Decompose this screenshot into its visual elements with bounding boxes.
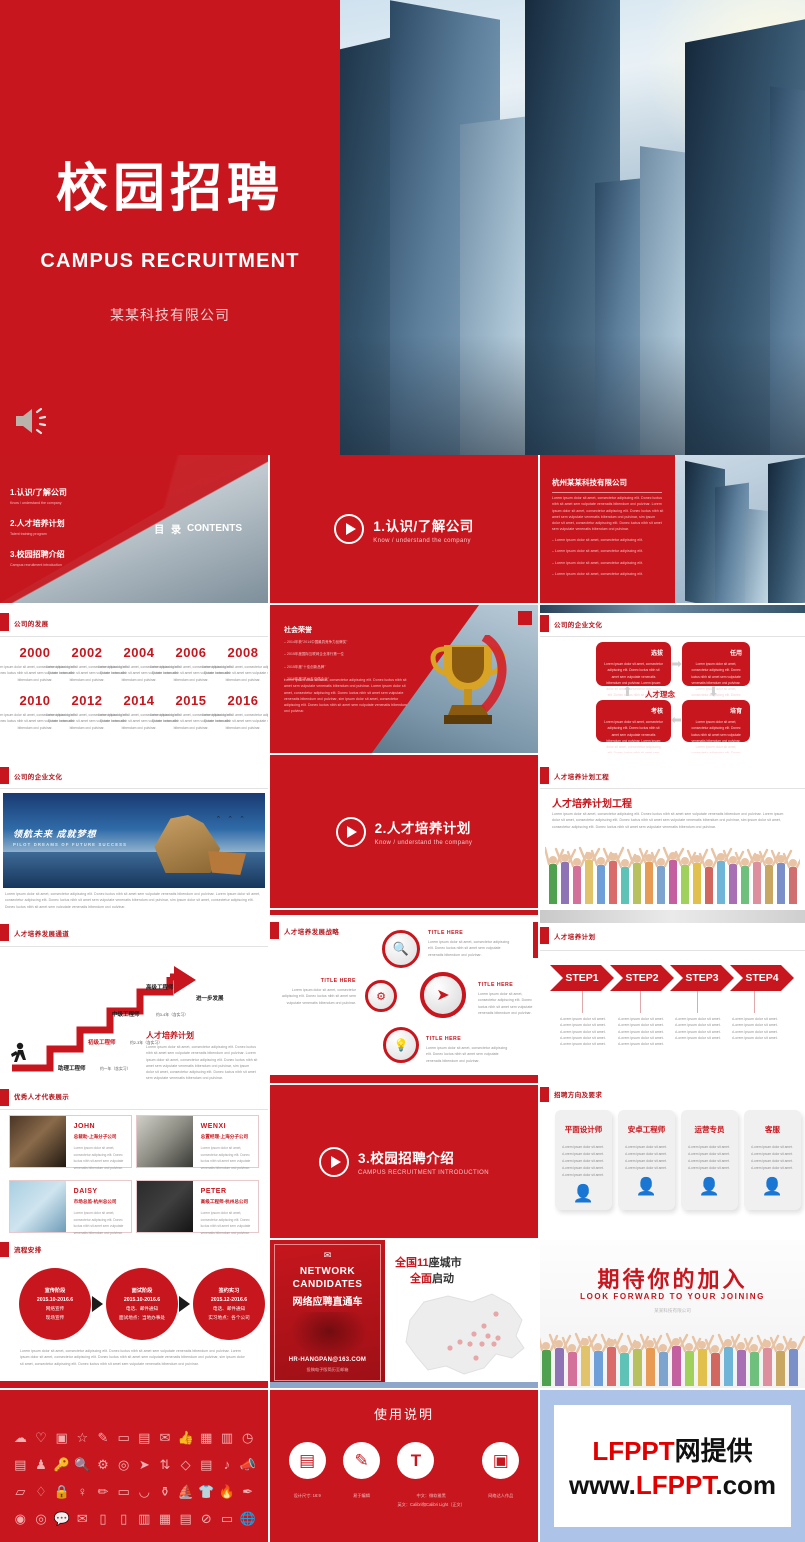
image-icon[interactable]: ▣	[51, 1424, 72, 1451]
step-chevron[interactable]: STEP1	[550, 965, 614, 991]
section-badge	[540, 767, 549, 784]
talent-card[interactable]: DAISY 市场总监-杭州总公司 Lorem ipsum dolor sit a…	[9, 1180, 132, 1233]
divider-line	[0, 636, 268, 637]
slide-usage: 使用说明 ▤ 设计尺寸: 16:9 ✎ 易于编辑 T 中文：微软雅黑 英文：Ca…	[270, 1390, 538, 1542]
section-heading: 人才培养发展战略	[284, 926, 339, 936]
bowl-icon[interactable]: ◡	[134, 1478, 155, 1505]
slide-talent-plan-cover: 人才培养计划工程 人才培养计划工程 Lorem ipsum dolor sit …	[540, 755, 805, 908]
step-chevron[interactable]: STEP4	[730, 965, 794, 991]
section-badge	[540, 927, 549, 944]
page-title: 校园招聘	[0, 163, 340, 215]
step-detail: •Lorem ipsum dolor sit amet.•Lorem ipsum…	[732, 1016, 784, 1041]
section-heading: 招聘方向及要求	[554, 1089, 602, 1099]
watch-icon[interactable]: ◷	[237, 1424, 258, 1451]
arrow-up-icon: ⬆	[622, 685, 633, 698]
pen-icon[interactable]: ✎	[93, 1424, 114, 1451]
play-icon[interactable]	[336, 817, 366, 847]
company-bullet: – Lorem ipsum dolor sit amet, consectetu…	[552, 560, 664, 566]
dream-image: 领航未来 成就梦想 PILOT DREAMS OF FUTURE SUCCESS…	[3, 793, 265, 888]
slide-contents: 1.认识/了解公司 Know / understand the company …	[0, 455, 268, 603]
ending-company: 某某科技有限公司	[540, 1308, 805, 1314]
pencil-icon[interactable]: ✏	[93, 1478, 114, 1505]
talent-photo	[10, 1181, 66, 1232]
career-end-label: 进一步发展	[196, 994, 224, 1002]
search-icon[interactable]: 🔍	[72, 1451, 93, 1478]
talent-plan-paragraph: Lorem ipsum dolor sit amet, consectetur …	[552, 811, 792, 830]
usage-item: ▤ 设计尺寸: 16:9	[289, 1442, 326, 1508]
crowd-photo	[540, 1326, 805, 1388]
job-card[interactable]: 运营专员 •Lorem ipsum dolor sit amet.•Lorem …	[681, 1110, 738, 1210]
strategy-item: TITLE HERE Lorem ipsum dolor sit amet, c…	[478, 982, 534, 1016]
culture-center-label: 人才理念	[645, 689, 675, 700]
map-title-line1: 全国11座城市	[395, 1254, 462, 1270]
phone-icon[interactable]: ▯	[113, 1505, 134, 1532]
section-heading: 人才培养发展通道	[14, 928, 69, 938]
envelope-icon[interactable]: ✉	[155, 1424, 176, 1451]
id-card-icon[interactable]: ▣	[482, 1442, 519, 1479]
slide-culture-cycle: 公司的企业文化 选拔 Lorem ipsum dolor sit amet, c…	[540, 605, 805, 753]
arrow-down-icon: ⬇	[708, 685, 719, 698]
slide-icon-sheet: ☁ ♡ ▣ ☆ ✎ ▭ ▤ ✉ 👍 ▦ ▥ ◷ ▤ ♟ 🔑 🔍 ⚙ ◎ ➤ ⇅ …	[0, 1390, 268, 1542]
database-icon[interactable]: ▤	[196, 1451, 217, 1478]
step-detail: •Lorem ipsum dolor sit amet.•Lorem ipsum…	[675, 1016, 727, 1041]
cover-left-panel: 校园招聘 CAMPUS RECRUITMENT 某某科技有限公司	[0, 0, 340, 455]
talent-card[interactable]: WENXI 总置经理-上海分子公司 Lorem ipsum dolor sit …	[136, 1115, 259, 1168]
notebook-icon[interactable]: ▤	[289, 1442, 326, 1479]
section-heading: 人才培养计划	[554, 931, 595, 941]
contents-label: 目 录 CONTENTS	[154, 521, 242, 536]
slide-section-2-divider: 2.人才培养计划 Know / understand the company	[270, 755, 538, 908]
culture-box: 培育 Lorem ipsum dolor sit amet, consectet…	[682, 700, 750, 742]
paper-plane-icon[interactable]: ➤	[420, 972, 466, 1018]
career-step-label: 初级工程师	[88, 1038, 116, 1046]
usage-item: T 中文：微软雅黑 英文：Calibri和Calibri Light（正文）	[397, 1442, 464, 1508]
section-subtitle: Know / understand the company	[375, 840, 473, 846]
key-icon[interactable]: 🔑	[51, 1451, 72, 1478]
newspaper-icon[interactable]: ▤	[134, 1424, 155, 1451]
talent-card[interactable]: PETER 高级工程师-杭州总公司 Lorem ipsum dolor sit …	[136, 1180, 259, 1233]
job-card[interactable]: 客服 •Lorem ipsum dolor sit amet.•Lorem ip…	[744, 1110, 801, 1210]
gear-icon[interactable]: ⚙	[93, 1451, 114, 1478]
truck-icon[interactable]: ▭	[217, 1505, 238, 1532]
heart-icon[interactable]: ♡	[31, 1424, 52, 1451]
job-card[interactable]: 平面设计师 •Lorem ipsum dolor sit amet.•Lorem…	[555, 1110, 612, 1210]
slide-honors: 社会荣誉 – 2014年获"2014中国最具竞争力品牌奖" – 2015年度国际…	[270, 605, 538, 753]
strategy-item: TITLE HERE Lorem ipsum dolor sit amet, c…	[276, 978, 356, 1006]
company-intro-paragraph: Lorem ipsum dolor sit amet, consectetur …	[552, 495, 664, 533]
slide-ending: 期待你的加入 LOOK FORWARD TO YOUR JOINING 某某科技…	[540, 1240, 805, 1388]
female-short-hair-avatar-icon: 👤	[744, 1177, 801, 1197]
chess-icon[interactable]: ♟	[31, 1451, 52, 1478]
career-paragraph: Lorem ipsum dolor sit amet, consectetur …	[146, 1044, 258, 1082]
save-icon[interactable]: ▥	[217, 1424, 238, 1451]
talent-plan-heading: 人才培养计划工程	[552, 795, 632, 810]
culture-box: 任用 Lorem ipsum dolor sit amet, consectet…	[682, 642, 750, 686]
fire-icon[interactable]: 🔥	[217, 1478, 238, 1505]
diamond-icon[interactable]: ♢	[31, 1478, 52, 1505]
eye-icon[interactable]: ◎	[31, 1505, 52, 1532]
section-title: 2.人才培养计划	[375, 817, 473, 837]
arrow-right-icon	[179, 1296, 190, 1312]
inbox-icon[interactable]: ✉	[72, 1505, 93, 1532]
honor-bullet: – 2015年度"十佳创新品牌"	[284, 664, 414, 670]
male-glasses-avatar-icon: 👤	[618, 1177, 675, 1197]
talent-card[interactable]: JOHN 总裁助-上海分子公司 Lorem ipsum dolor sit am…	[9, 1115, 132, 1168]
slide-section-1-divider: 1.认识/了解公司 Know / understand the company	[270, 455, 538, 603]
usage-item: ✎ 易于编辑	[343, 1442, 380, 1508]
divider-line	[540, 788, 805, 789]
music-icon[interactable]: ♪	[217, 1451, 238, 1478]
process-circle: 面试阶段 2015.10-2016.6 电话、邮件通知 面试地点：当地办事处	[106, 1268, 178, 1340]
ending-subtitle: LOOK FORWARD TO YOUR JOINING	[540, 1292, 805, 1301]
company-intro-title: 杭州某某科技有限公司	[552, 477, 662, 493]
location-pin-icon[interactable]: ♀	[72, 1478, 93, 1505]
honor-bullet: – 2015年度国际互联网企业排行第一位	[284, 651, 414, 657]
section-badge	[540, 1087, 549, 1102]
globe-icon[interactable]: 🌐	[237, 1505, 258, 1532]
section-badge	[0, 1242, 9, 1257]
slide-network-map: ✉ NETWORK CANDIDATES 网络应聘直通车 HR-HANGPAN@…	[270, 1240, 538, 1388]
process-circle: 签约实习 2015.12-2016.6 电话、邮件通知 实习地点：各个公司	[193, 1268, 265, 1340]
font-icon[interactable]: T	[397, 1442, 434, 1479]
honors-paragraph: Lorem ipsum dolor sit amet, consectetur …	[284, 677, 408, 715]
timeline-year: 2016Lorem ipsum dolor sit amet, consecte…	[199, 693, 268, 731]
play-icon[interactable]	[319, 1147, 349, 1177]
cloud-icon[interactable]: ☁	[10, 1424, 31, 1451]
watermark-line-2: www.LFPPT.com	[569, 1470, 776, 1501]
slide-steps: 人才培养计划 STEP1 STEP2 STEP3 STEP4 •Lorem ip…	[540, 910, 805, 1083]
divider-line	[0, 1109, 268, 1110]
wallet-icon[interactable]: ▤	[175, 1505, 196, 1532]
file-icon[interactable]: ▱	[10, 1478, 31, 1505]
trash-icon[interactable]: ▤	[10, 1451, 31, 1478]
section-badge	[540, 615, 549, 632]
section-badge	[0, 613, 9, 631]
edit-icon[interactable]: ✎	[343, 1442, 380, 1479]
divider-line	[0, 788, 268, 789]
career-step-label: 高级工程师	[146, 983, 174, 991]
calendar-icon[interactable]: ▦	[155, 1505, 176, 1532]
paper-plane-icon[interactable]: ➤	[134, 1451, 155, 1478]
ruler-icon[interactable]: ✒	[237, 1478, 258, 1505]
slide-process: 流程安排 宣传阶段 2015.10-2016.6 网络宣传 现场宣传 面试阶段 …	[0, 1240, 268, 1388]
honor-bullet: – 2014年获"2014中国最具竞争力品牌奖"	[284, 639, 414, 645]
watermark-line-1: LFPPT网提供	[592, 1431, 752, 1468]
career-step-label: 助理工程师	[58, 1064, 86, 1072]
slide-cover: 校园招聘 CAMPUS RECRUITMENT 某某科技有限公司	[0, 0, 805, 455]
slide-jobs: 招聘方向及要求 平面设计师 •Lorem ipsum dolor sit ame…	[540, 1085, 805, 1238]
gear-icon[interactable]: ⚙	[365, 980, 397, 1012]
play-icon[interactable]	[334, 514, 364, 544]
usage-title: 使用说明	[270, 1404, 538, 1423]
slide-strategy-gears: 人才培养发展战略 🔍 ⚙ ➤ 💡 TITLE HERE Lorem ipsum …	[270, 910, 538, 1083]
section-subtitle: Know / understand the company	[373, 538, 474, 544]
thumbs-up-icon[interactable]: 👍	[175, 1424, 196, 1451]
mail-icon: ✉	[270, 1250, 385, 1261]
usage-item: ▣ 网络达人作品	[482, 1442, 519, 1508]
section-heading: 优秀人才代表展示	[14, 1091, 69, 1101]
timeline-year: 2008Lorem ipsum dolor sit amet, consecte…	[199, 645, 268, 683]
speaker-icon[interactable]	[14, 405, 54, 437]
career-step-note: 约3-4年（含实习）	[156, 1013, 188, 1018]
section-heading: 公司的企业文化	[14, 771, 62, 781]
search-icon[interactable]: 🔍	[382, 930, 420, 968]
step-detail: •Lorem ipsum dolor sit amet.•Lorem ipsum…	[618, 1016, 670, 1047]
ppt-preview-sheet: 校园招聘 CAMPUS RECRUITMENT 某某科技有限公司	[0, 0, 805, 1542]
strategy-item: TITLE HERE Lorem ipsum dolor sit amet, c…	[426, 1036, 512, 1064]
company-bullet: – Lorem ipsum dolor sit amet, consectetu…	[552, 548, 664, 554]
job-card[interactable]: 安卓工程师 •Lorem ipsum dolor sit amet.•Lorem…	[618, 1110, 675, 1210]
section-badge	[0, 1089, 9, 1106]
arrow-right-icon	[92, 1296, 103, 1312]
tshirt-icon[interactable]: 👕	[196, 1478, 217, 1505]
section-badge	[0, 767, 9, 784]
section-heading: 流程安排	[14, 1244, 42, 1254]
no-entry-icon[interactable]: ⊘	[196, 1505, 217, 1532]
sliders-icon[interactable]: ⇅	[155, 1451, 176, 1478]
trophy-image	[424, 635, 512, 735]
lightbulb-icon[interactable]: 💡	[383, 1027, 419, 1063]
career-step-note: 约一年（含实习）	[100, 1067, 130, 1072]
section-title: 1.认识/了解公司	[373, 515, 474, 535]
slide-dream-banner: 公司的企业文化 领航未来 成就梦想 PILOT DREAMS OF FUTURE…	[0, 755, 268, 908]
cover-photo-skyscrapers	[340, 0, 805, 455]
career-step-label: 中级工程师	[112, 1010, 140, 1018]
contents-item-2[interactable]: 2.人才培养计划 Talent training program	[10, 518, 65, 536]
slide-company-intro: 杭州某某科技有限公司 Lorem ipsum dolor sit amet, c…	[540, 455, 805, 603]
talent-photo	[137, 1181, 193, 1232]
company-bullet: – Lorem ipsum dolor sit amet, consectetu…	[552, 537, 664, 543]
divider-line	[540, 950, 805, 951]
china-map	[388, 1286, 533, 1382]
process-paragraph: Lorem ipsum dolor sit amet, consectetur …	[20, 1348, 248, 1367]
step-chevron[interactable]: STEP3	[670, 965, 734, 991]
culture-box: 考核 Lorem ipsum dolor sit amet, consectet…	[596, 700, 671, 742]
section-badge	[0, 924, 9, 941]
cover-company: 某某科技有限公司	[0, 305, 340, 325]
section-heading: 社会荣誉	[284, 625, 312, 635]
arrow-right-icon: ➡	[671, 657, 682, 670]
store-icon[interactable]: ▥	[134, 1505, 155, 1532]
slide-talents: 优秀人才代表展示 JOHN 总裁助-上海分子公司 Lorem ipsum dol…	[0, 1085, 268, 1238]
chat-bubble-icon[interactable]: 💬	[51, 1505, 72, 1532]
talent-photo	[137, 1116, 193, 1167]
process-circle: 宣传阶段 2015.10-2016.6 网络宣传 现场宣传	[19, 1268, 91, 1340]
watermark-block: LFPPT网提供 www.LFPPT.com	[540, 1390, 805, 1542]
cover-subtitle: CAMPUS RECRUITMENT	[0, 250, 340, 273]
icon-grid: ☁ ♡ ▣ ☆ ✎ ▭ ▤ ✉ 👍 ▦ ▥ ◷ ▤ ♟ 🔑 🔍 ⚙ ◎ ➤ ⇅ …	[10, 1424, 258, 1532]
section-heading: 人才培养计划工程	[554, 771, 609, 781]
step-chevron[interactable]: STEP2	[610, 965, 674, 991]
contents-item-1[interactable]: 1.认识/了解公司 Know / understand the company	[10, 487, 67, 505]
ending-title: 期待你的加入	[540, 1262, 805, 1294]
suit-avatar-icon: 👤	[681, 1177, 738, 1197]
slide-career-path: 人才培养发展通道 实习生 试用3个月实习 助理工程师 约一年（含实习） 初级工程…	[0, 910, 268, 1083]
camera-icon[interactable]: ◎	[113, 1451, 134, 1478]
calculator-icon[interactable]: ▦	[196, 1424, 217, 1451]
divider-line	[0, 946, 268, 947]
section-subtitle: CAMPUS RECRUITMENT INTRODUCTION	[358, 1170, 489, 1176]
step-detail: •Lorem ipsum dolor sit amet.•Lorem ipsum…	[560, 1016, 612, 1047]
career-heading: 人才培养计划	[146, 1030, 194, 1041]
strategy-item: TITLE HERE Lorem ipsum dolor sit amet, c…	[428, 930, 514, 958]
video-icon[interactable]: ▭	[113, 1424, 134, 1451]
megaphone-icon[interactable]: 📣	[237, 1451, 258, 1478]
star-icon[interactable]: ☆	[72, 1424, 93, 1451]
contents-item-3[interactable]: 3.校园招聘介绍 Campus recruitment introduction	[10, 549, 65, 567]
lock-icon[interactable]: 🔒	[51, 1478, 72, 1505]
lamp-icon[interactable]: ⚱	[155, 1478, 176, 1505]
arrow-left-icon: ⬅	[671, 713, 682, 726]
divider-line	[540, 636, 805, 637]
section-heading: 公司的发展	[14, 618, 49, 628]
slide-company-history: 公司的发展 2000Lorem ipsum dolor sit amet, co…	[0, 605, 268, 753]
monitor-icon[interactable]: ▭	[113, 1478, 134, 1505]
dream-paragraph: Lorem ipsum dolor sit amet, consectetur …	[5, 891, 261, 908]
coffee-cup-icon[interactable]: ▯	[93, 1505, 114, 1532]
company-bullet: – Lorem ipsum dolor sit amet, consectetu…	[552, 571, 664, 577]
female-avatar-icon: 👤	[555, 1184, 612, 1204]
boat-icon[interactable]: ⛵	[175, 1478, 196, 1505]
crowd-photo	[545, 836, 800, 908]
section-badge	[270, 922, 279, 939]
map-pin-icon[interactable]: ◉	[10, 1505, 31, 1532]
section-heading: 公司的企业文化	[554, 619, 602, 629]
tag-icon[interactable]: ◇	[175, 1451, 196, 1478]
section-title: 3.校园招聘介绍	[358, 1147, 489, 1167]
talent-photo	[10, 1116, 66, 1167]
slide-section-3-divider: 3.校园招聘介绍 CAMPUS RECRUITMENT INTRODUCTION	[270, 1085, 538, 1238]
culture-box: 选拔 Lorem ipsum dolor sit amet, consectet…	[596, 642, 671, 686]
map-title-line2: 全面启动	[410, 1270, 454, 1286]
network-poster: ✉ NETWORK CANDIDATES 网络应聘直通车 HR-HANGPAN@…	[270, 1240, 385, 1385]
